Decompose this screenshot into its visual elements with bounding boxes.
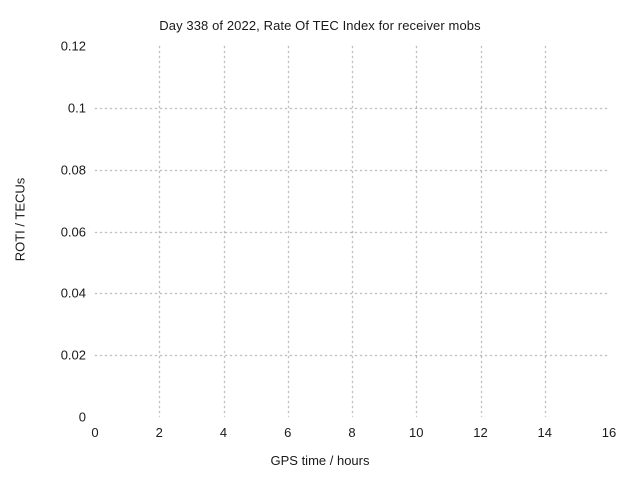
y-tick-4: 0.08 [20, 162, 86, 177]
x-tick-2: 4 [220, 425, 227, 440]
y-tick-3: 0.06 [20, 224, 86, 239]
y-tick-1: 0.02 [20, 348, 86, 363]
x-tick-6: 12 [473, 425, 487, 440]
x-tick-7: 14 [538, 425, 552, 440]
x-tick-4: 8 [348, 425, 355, 440]
y-tick-0: 0 [20, 410, 86, 425]
y-tick-2: 0.04 [20, 286, 86, 301]
x-axis-label: GPS time / hours [0, 453, 640, 468]
x-tick-0: 0 [91, 425, 98, 440]
scatter-plot-canvas [0, 0, 640, 480]
y-tick-6: 0.12 [20, 39, 86, 54]
x-tick-5: 10 [409, 425, 423, 440]
x-tick-3: 6 [284, 425, 291, 440]
roti-scatter-figure: Day 338 of 2022, Rate Of TEC Index for r… [0, 0, 640, 480]
x-tick-8: 16 [602, 425, 616, 440]
x-tick-1: 2 [156, 425, 163, 440]
y-tick-5: 0.1 [20, 100, 86, 115]
